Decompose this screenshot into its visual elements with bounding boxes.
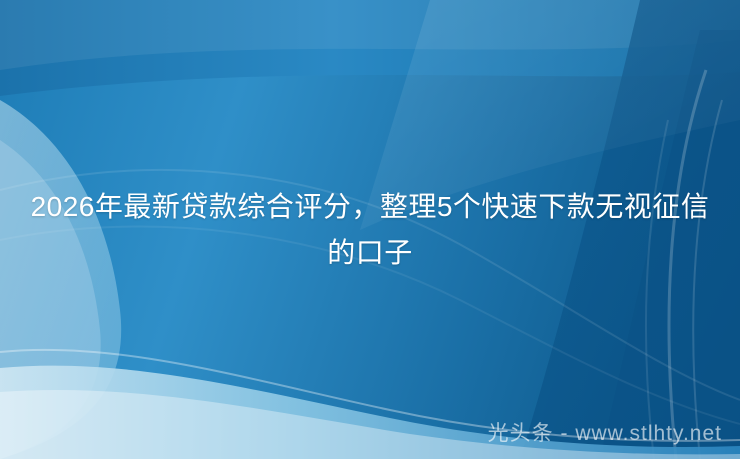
- site-watermark: 光头条 - www.stlhty.net: [488, 417, 722, 447]
- promo-banner: 2026年最新贷款综合评分，整理5个快速下款无视征信的口子 光头条 - www.…: [0, 0, 740, 459]
- headline-container: 2026年最新贷款综合评分，整理5个快速下款无视征信的口子: [0, 0, 740, 459]
- banner-headline: 2026年最新贷款综合评分，整理5个快速下款无视征信的口子: [20, 184, 720, 276]
